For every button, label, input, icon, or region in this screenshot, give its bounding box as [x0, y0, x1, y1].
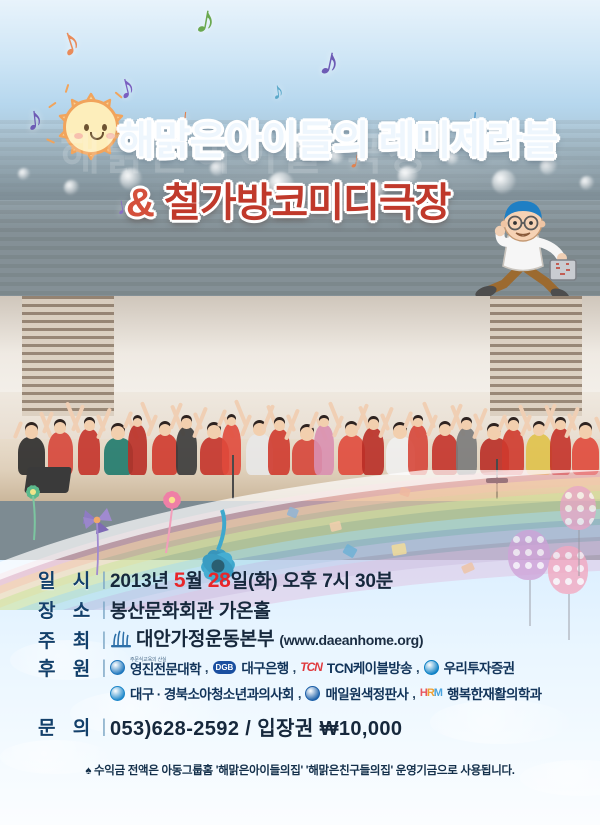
sponsor-item: 대구 · 경북소아청소년과의사회 — [110, 683, 294, 703]
detail-row-date: 일 시 | 2013년 5월 28일(화) 오후 7시 30분 — [0, 564, 600, 594]
row-separator: | — [98, 657, 110, 678]
detail-row-sponsors-2: 대구 · 경북소아청소년과의사회,매일원색정판사,HRM행복한재활의학과 — [0, 680, 600, 706]
performer-arm — [284, 409, 300, 441]
performer-head — [508, 420, 519, 431]
row-separator: | — [98, 716, 110, 737]
spade-icon: ♠ — [85, 765, 91, 777]
detail-row-contact: 문 의 | 053)628-2592 / 입장권 ₩10,000 — [0, 711, 600, 741]
maeil-logo-icon — [305, 686, 320, 701]
title-line-2-text: 철가방코미디극장 — [164, 181, 450, 225]
fountain-icon — [110, 630, 132, 654]
sponsor-item: 우리투자증권 — [424, 657, 515, 677]
bokeh-light — [18, 168, 30, 180]
sponsor-name: 매일원색정판사 — [325, 683, 408, 703]
performer-arm — [593, 416, 600, 439]
flower-green — [25, 484, 41, 540]
performer-head — [300, 427, 314, 441]
performer-head — [54, 422, 66, 434]
hrm-logo-icon: HRM — [420, 687, 442, 699]
title-ampersand: & — [126, 181, 154, 225]
performer-head — [413, 418, 423, 428]
sponsor-separator: , — [411, 686, 417, 701]
venue-label: 장 소 — [38, 596, 98, 623]
dgb-logo-icon: DGB — [213, 661, 237, 674]
sponsor-item: 매일원색정판사 — [305, 683, 408, 703]
sponsor-name: TCN케이블방송 — [327, 657, 412, 677]
date-label: 일 시 — [38, 566, 98, 593]
contact-label: 문 의 — [38, 713, 98, 740]
title-line-1: 해맑은아이들의 레미제라블 — [118, 108, 558, 166]
date-month: 5 — [174, 569, 185, 592]
performer-head — [84, 420, 95, 431]
sponsor-separator: , — [204, 660, 210, 675]
performer-head — [227, 417, 236, 426]
sponsor-list-row-2: 대구 · 경북소아청소년과의사회,매일원색정판사,HRM행복한재활의학과 — [110, 683, 542, 703]
performer-head — [461, 420, 471, 430]
sponsor-separator: , — [292, 660, 298, 675]
sponsor-separator: , — [297, 686, 303, 701]
sun-face — [63, 99, 119, 155]
bokeh-light — [64, 180, 79, 195]
sponsor-list-row-1: 주문식교육의 산실영진전문대학,DGB대구은행,TCNTCN케이블방송,우리투자… — [110, 657, 515, 677]
host-url[interactable]: (www.daeanhome.org) — [279, 632, 423, 648]
performer-head — [274, 420, 285, 431]
music-note-icon: ♪ — [24, 101, 44, 137]
performer — [432, 434, 458, 475]
bokeh-light — [580, 176, 594, 190]
row-separator: | — [98, 569, 110, 590]
sponsor-item: TCNTCN케이블방송 — [300, 657, 412, 677]
performer — [526, 434, 552, 475]
performer-head — [555, 420, 565, 430]
sponsor-name: 대구 · 경북소아청소년과의사회 — [130, 683, 294, 703]
performer-head — [579, 425, 592, 438]
sponsor-separator: , — [415, 660, 421, 675]
date-day: 28 — [208, 569, 231, 592]
sponsor-item: HRM행복한재활의학과 — [420, 683, 542, 703]
performer-arm — [192, 406, 208, 438]
row-separator: | — [98, 629, 110, 650]
sponsor-item: 주문식교육의 산실영진전문대학 — [110, 658, 201, 677]
performer-arm — [378, 406, 394, 438]
title-line-2: & 철가방코미디극장 — [126, 170, 450, 228]
sponsor-name: 우리투자증권 — [444, 657, 515, 677]
detail-row-venue: 장 소 | 봉산문화회관 가온홀 — [0, 594, 600, 624]
performer — [152, 434, 178, 475]
venue-value: 봉산문화회관 가온홀 — [110, 596, 271, 623]
woori-logo-icon — [424, 660, 439, 675]
date-day-rest: 일(화) — [231, 571, 278, 592]
host-label: 주 최 — [38, 626, 98, 653]
performer-arm — [13, 421, 23, 439]
host-value: 대안가정운동본부 (www.daeanhome.org) — [110, 624, 423, 654]
performer — [128, 425, 147, 475]
row-separator: | — [98, 599, 110, 620]
sponsor-name: 행복한재활의학과 — [447, 683, 542, 703]
performer — [314, 425, 334, 475]
confetti-pieces — [286, 487, 475, 574]
sponsor-name: 영진전문대학 — [130, 663, 201, 677]
contact-value: 053)628-2592 / 입장권 ₩10,000 — [110, 712, 402, 741]
date-month-unit: 월 — [185, 571, 202, 592]
performer — [408, 425, 428, 475]
yeungjin-logo-icon — [110, 660, 125, 675]
sponsors-label: 후 원 — [38, 654, 98, 681]
sponsor-item: DGB대구은행 — [213, 657, 289, 677]
tcn-logo-icon: TCN — [300, 660, 322, 674]
footer-note: ♠ 수익금 전액은 아동그룹홈 '해맑은아이들의집' '해맑은친구들의집' 운영… — [0, 762, 600, 778]
footer-text: 수익금 전액은 아동그룹홈 '해맑은아이들의집' '해맑은친구들의집' 운영기금… — [94, 765, 515, 777]
detail-row-sponsors-1: 후 원 | 주문식교육의 산실영진전문대학,DGB대구은행,TCNTCN케이블방… — [0, 654, 600, 680]
host-name: 대안가정운동본부 — [136, 629, 274, 650]
flower-pink — [162, 489, 183, 553]
date-value: 2013년 5월 28일(화) 오후 7시 30분 — [110, 566, 393, 593]
performer-head — [319, 418, 329, 428]
performer-head — [181, 418, 191, 428]
balloon-icon — [560, 486, 596, 530]
performer-head — [368, 419, 379, 430]
sponsor-name: 대구은행 — [241, 657, 288, 677]
date-year: 2013년 — [110, 571, 169, 592]
event-poster: ♪♪♪♪♪♪♩♩♩♩ 해맑은아이들 극장 해맑은아이들의 레미제라블 & 철가방… — [0, 0, 600, 825]
detail-row-host: 주 최 | 대안가정운동본부 (www.daeanhome.org) — [0, 624, 600, 654]
bokeh-light — [492, 170, 516, 194]
event-details: 일 시 | 2013년 5월 28일(화) 오후 7시 30분 장 소 | 봉산… — [0, 564, 600, 741]
performer-head — [25, 425, 38, 438]
date-time: 오후 7시 30분 — [283, 571, 393, 592]
pediatrics-logo-icon — [110, 686, 125, 701]
